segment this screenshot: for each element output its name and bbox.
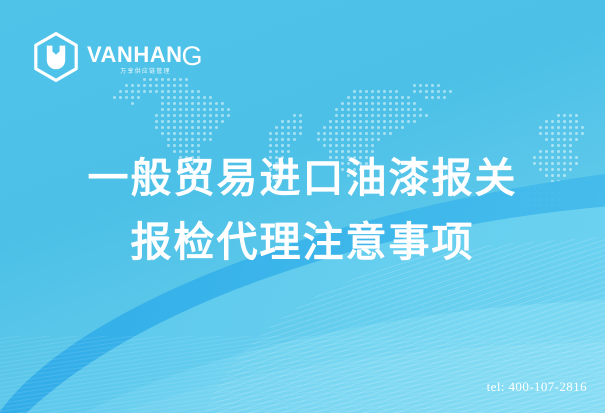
brand-logo: VANHANG 万享供应链管理 — [33, 31, 204, 83]
wave-hairlines-lower — [0, 336, 605, 413]
brand-wordmark-main: VANHAN — [87, 42, 182, 67]
wave-shape-light — [0, 296, 605, 413]
promo-banner: VANHANG 万享供应链管理 一般贸易进口油漆报关 报检代理注意事项 tel:… — [0, 0, 605, 413]
contact-phone: tel: 400-107-2816 — [487, 379, 587, 395]
headline-line-1: 一般贸易进口油漆报关 — [0, 146, 605, 210]
wave-shape-pale — [0, 340, 605, 413]
hexagon-logo-icon — [33, 32, 79, 82]
brand-wordmark-text: VANHANG — [87, 40, 204, 67]
page-title: 一般贸易进口油漆报关 报检代理注意事项 — [0, 146, 605, 274]
brand-wordmark: VANHANG 万享供应链管理 — [87, 37, 204, 77]
headline-line-2: 报检代理注意事项 — [0, 210, 605, 274]
brand-wordmark-tail: G — [181, 41, 203, 71]
